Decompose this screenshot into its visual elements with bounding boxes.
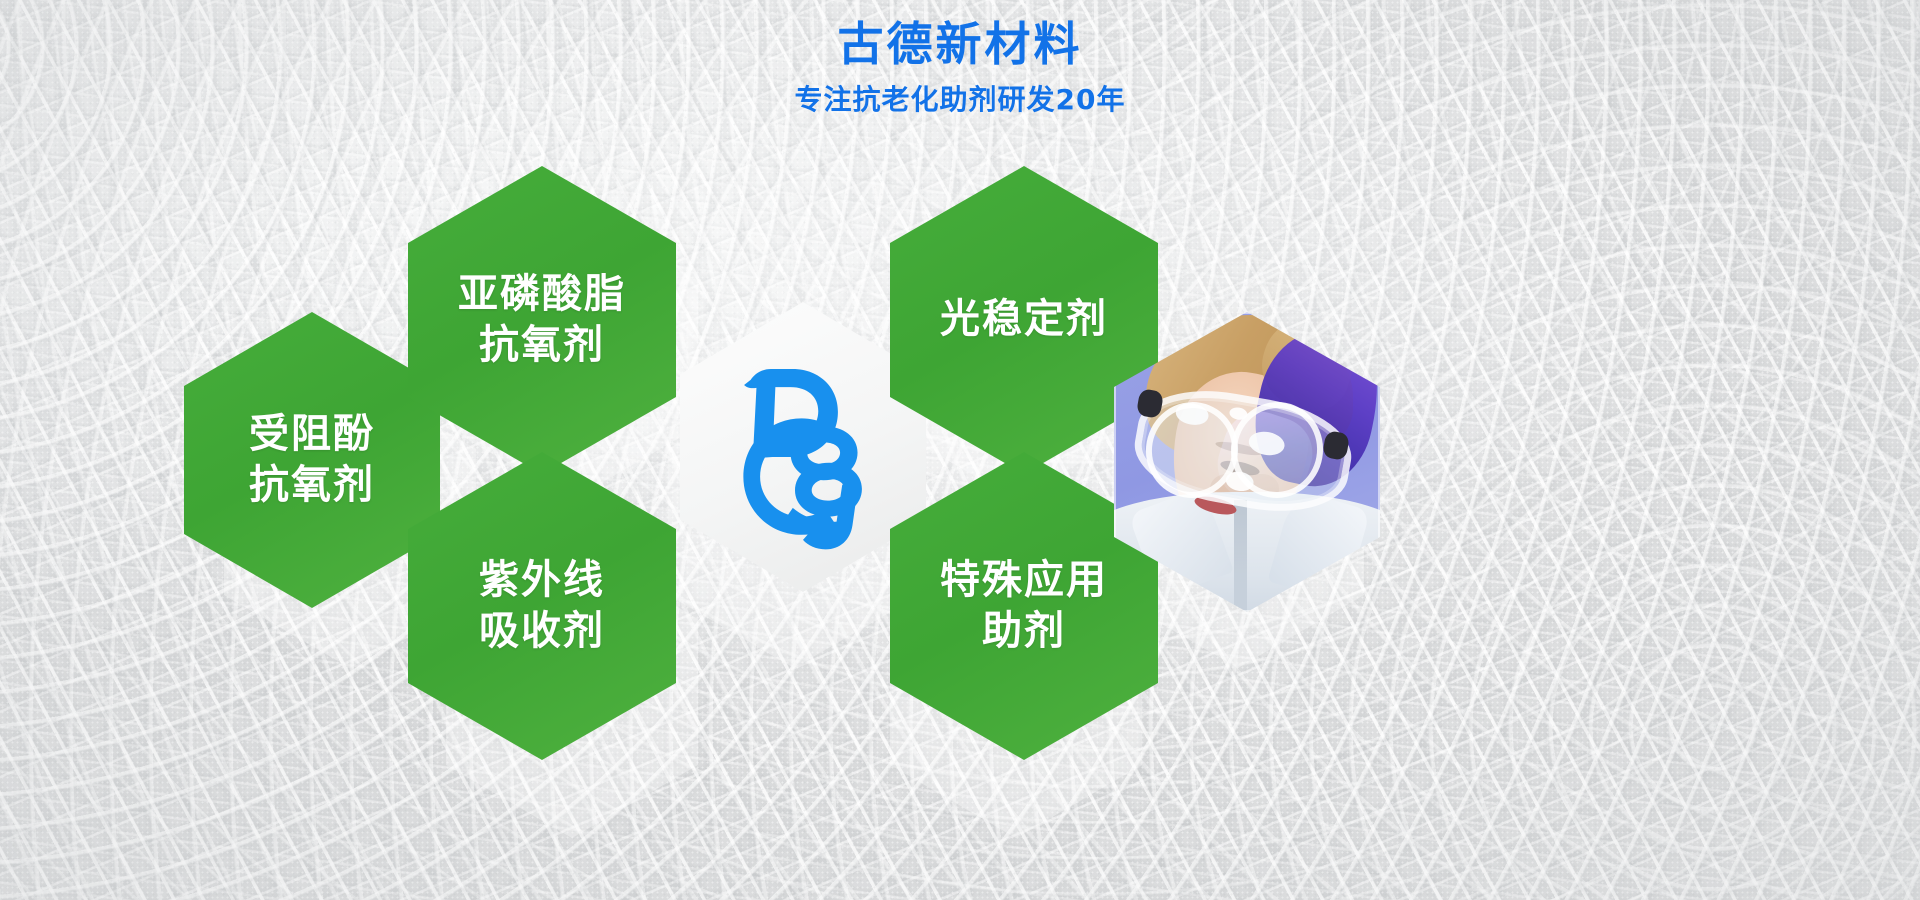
hex-label-light-stabilizer: 光稳定剂 [932,294,1116,345]
hex-label-phosphite-antioxidant: 亚磷酸脂 抗氧剂 [450,269,634,371]
page-subtitle: 专注抗老化助剂研发20年 [0,83,1920,117]
hex-hindered-phenol-antioxidant[interactable]: 受阻酚 抗氧剂 [184,312,440,608]
hexagon-grid: 受阻酚 抗氧剂 亚磷酸脂 抗氧剂 紫外线 吸收剂 [0,0,1920,900]
headline-block: 古德新材料 专注抗老化助剂研发20年 [0,18,1920,116]
hex-label-special-application-additive: 特殊应用 助剂 [932,555,1116,657]
hex-logo-center[interactable] [680,302,926,592]
hex-uv-absorber[interactable]: 紫外线 吸收剂 [408,452,676,760]
banner-stage: 古德新材料 专注抗老化助剂研发20年 受阻酚 抗氧剂 亚磷酸脂 抗氧剂 紫外线 … [0,0,1920,900]
hex-label-uv-absorber: 紫外线 吸收剂 [471,555,613,657]
dg-logo-icon [723,340,883,555]
page-title: 古德新材料 [0,18,1920,71]
hex-label-hindered-phenol-antioxidant: 受阻酚 抗氧剂 [241,409,383,511]
hex-phosphite-antioxidant[interactable]: 亚磷酸脂 抗氧剂 [408,166,676,474]
